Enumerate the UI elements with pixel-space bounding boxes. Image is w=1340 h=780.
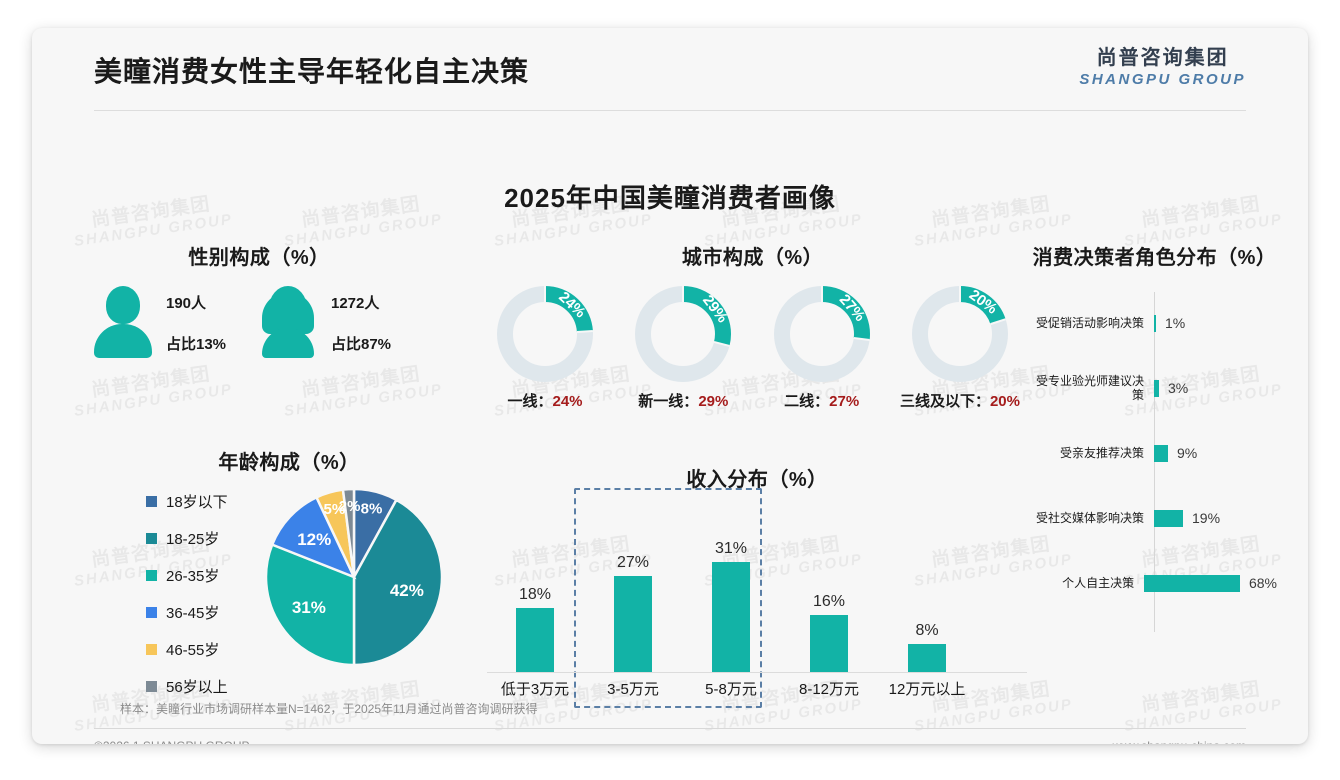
- gender-panel-title: 性别构成（%）: [94, 241, 424, 270]
- income-bar-column: 27%: [587, 554, 679, 672]
- role-row: 受专业验光师建议决策3%: [1032, 365, 1277, 411]
- city-caption: 一线：24%: [480, 390, 610, 411]
- city-name: 新一线：: [638, 393, 698, 410]
- income-bar: [614, 576, 652, 672]
- income-category-label: 5-8万元: [685, 678, 777, 699]
- city-panel: 城市构成（%） 24%一线：24%29%新一线：29%27%二线：27%20%三…: [480, 241, 1025, 411]
- role-value: 1%: [1165, 315, 1185, 331]
- income-bar-value: 18%: [489, 586, 581, 604]
- age-legend: 18岁以下18-25岁26-35岁36-45岁46-55岁56岁以上: [146, 491, 228, 713]
- city-value: 29%: [698, 393, 728, 410]
- city-caption: 三线及以下：20%: [895, 390, 1025, 411]
- income-bar-value: 27%: [587, 554, 679, 572]
- city-caption: 新一线：29%: [618, 390, 748, 411]
- legend-swatch-icon: [146, 570, 157, 581]
- age-legend-item: 26-35岁: [146, 565, 228, 586]
- role-row: 受促销活动影响决策1%: [1032, 300, 1277, 346]
- city-value: 20%: [990, 393, 1020, 410]
- age-panel: 年龄构成（%） 18岁以下18-25岁26-35岁36-45岁46-55岁56岁…: [94, 446, 484, 667]
- role-row: 个人自主决策68%: [1032, 560, 1277, 606]
- age-legend-label: 18-25岁: [166, 528, 219, 549]
- legend-swatch-icon: [146, 644, 157, 655]
- role-row: 受社交媒体影响决策19%: [1032, 495, 1277, 541]
- role-bar: [1154, 315, 1156, 332]
- pie-slice-label: 31%: [292, 598, 326, 617]
- donut-chart: 24%: [497, 286, 593, 382]
- age-legend-label: 56岁以上: [166, 676, 228, 697]
- age-legend-label: 36-45岁: [166, 602, 219, 623]
- gender-share: 占比87%: [331, 333, 391, 354]
- pie-slice-label: 12%: [297, 530, 331, 549]
- role-label: 受社交媒体影响决策: [1032, 511, 1150, 525]
- header-divider: [94, 110, 1246, 111]
- income-category-label: 12万元以上: [881, 678, 973, 699]
- role-bar: [1154, 380, 1159, 397]
- gender-count: 1272人: [331, 292, 391, 313]
- copyright-text: ©2026.1 SHANGPU GROUP: [94, 739, 250, 744]
- header: 美瞳消费女性主导年轻化自主决策 尚普咨询集团 SHANGPU GROUP: [32, 28, 1308, 113]
- income-bar: [908, 644, 946, 672]
- city-name: 一线：: [507, 393, 552, 410]
- decision-roles-panel-title: 消费决策者角色分布（%）: [1032, 241, 1277, 270]
- pie-slice-label: 42%: [390, 581, 424, 600]
- legend-swatch-icon: [146, 681, 157, 692]
- gender-count: 190人: [166, 292, 226, 313]
- role-bar: [1154, 445, 1168, 462]
- city-donut-item: 20%三线及以下：20%: [895, 286, 1025, 411]
- income-category-label: 3-5万元: [587, 678, 679, 699]
- income-bar-value: 31%: [685, 540, 777, 558]
- gender-item: 190人占比13%: [94, 286, 259, 358]
- role-bar: [1144, 575, 1240, 592]
- age-legend-item: 18-25岁: [146, 528, 228, 549]
- gender-text: 1272人占比87%: [331, 286, 391, 354]
- income-bar: [810, 615, 848, 672]
- role-label: 受亲友推荐决策: [1032, 446, 1150, 460]
- city-donut-item: 27%二线：27%: [757, 286, 887, 411]
- city-caption: 二线：27%: [757, 390, 887, 411]
- income-bar: [712, 562, 750, 672]
- role-row: 受亲友推荐决策9%: [1032, 430, 1277, 476]
- income-category-label: 低于3万元: [489, 678, 581, 699]
- income-bar-value: 16%: [783, 593, 875, 611]
- gender-share: 占比13%: [166, 333, 226, 354]
- donut-chart: 20%: [912, 286, 1008, 382]
- age-chart: 18岁以下18-25岁26-35岁36-45岁46-55岁56岁以上 8%42%…: [94, 487, 484, 667]
- role-label: 受专业验光师建议决策: [1032, 374, 1150, 403]
- chart-subtitle: 2025年中国美瞳消费者画像: [32, 178, 1308, 215]
- age-panel-title: 年龄构成（%）: [94, 446, 484, 475]
- city-panel-title: 城市构成（%）: [480, 241, 1025, 270]
- income-bars: 18%27%31%16%8%: [487, 502, 1027, 672]
- income-axis-line: [487, 672, 1027, 673]
- role-value: 3%: [1168, 380, 1188, 396]
- role-bar: [1154, 510, 1183, 527]
- website-url[interactable]: www.shangpu-china.com: [1113, 739, 1246, 744]
- female-icon: [259, 286, 317, 358]
- page-title: 美瞳消费女性主导年轻化自主决策: [94, 50, 529, 90]
- pie-slice-label: 2%: [339, 498, 361, 515]
- gender-items: 190人占比13%1272人占比87%: [94, 286, 424, 358]
- gender-text: 190人占比13%: [166, 286, 226, 354]
- age-legend-label: 18岁以下: [166, 491, 228, 512]
- decision-roles-chart: 受促销活动影响决策1%受专业验光师建议决策3%受亲友推荐决策9%受社交媒体影响决…: [1032, 292, 1277, 632]
- income-category-label: 8-12万元: [783, 678, 875, 699]
- gender-panel: 性别构成（%） 190人占比13%1272人占比87%: [94, 241, 424, 358]
- city-donut-item: 24%一线：24%: [480, 286, 610, 411]
- role-value: 9%: [1177, 445, 1197, 461]
- age-legend-label: 26-35岁: [166, 565, 219, 586]
- legend-swatch-icon: [146, 496, 157, 507]
- city-name: 三线及以下：: [900, 393, 990, 410]
- age-legend-item: 36-45岁: [146, 602, 228, 623]
- sample-footnote: 样本：美瞳行业市场调研样本量N=1462，于2025年11月通过尚普咨询调研获得: [120, 700, 538, 717]
- income-panel: 收入分布（%） 18%27%31%16%8% 低于3万元3-5万元5-8万元8-…: [487, 463, 1027, 717]
- logo-english-text: SHANGPU GROUP: [1079, 70, 1246, 90]
- age-legend-item: 46-55岁: [146, 639, 228, 660]
- age-legend-item: 18岁以下: [146, 491, 228, 512]
- city-donut-row: 24%一线：24%29%新一线：29%27%二线：27%20%三线及以下：20%: [480, 286, 1025, 411]
- income-category-labels: 低于3万元3-5万元5-8万元8-12万元12万元以上: [487, 678, 1027, 708]
- role-label: 受促销活动影响决策: [1032, 316, 1150, 330]
- age-pie-chart: 8%42%31%12%5%2%: [264, 487, 444, 672]
- gender-item: 1272人占比87%: [259, 286, 424, 358]
- logo-chinese-text: 尚普咨询集团: [1079, 46, 1246, 70]
- city-donut-item: 29%新一线：29%: [618, 286, 748, 411]
- role-value: 68%: [1249, 575, 1277, 591]
- decision-roles-panel: 消费决策者角色分布（%） 受促销活动影响决策1%受专业验光师建议决策3%受亲友推…: [1032, 241, 1277, 632]
- income-bar-value: 8%: [881, 622, 973, 640]
- income-chart: 18%27%31%16%8% 低于3万元3-5万元5-8万元8-12万元12万元…: [487, 502, 1027, 717]
- legend-swatch-icon: [146, 533, 157, 544]
- donut-chart: 29%: [635, 286, 731, 382]
- income-bar-column: 8%: [881, 622, 973, 672]
- age-legend-item: 56岁以上: [146, 676, 228, 697]
- donut-chart: 27%: [774, 286, 870, 382]
- income-bar-column: 16%: [783, 593, 875, 672]
- income-bar-column: 18%: [489, 586, 581, 672]
- male-icon: [94, 286, 152, 358]
- income-bar: [516, 608, 554, 672]
- footer-divider: [94, 728, 1246, 729]
- pie-slice-label: 8%: [361, 500, 383, 517]
- role-value: 19%: [1192, 510, 1220, 526]
- city-value: 24%: [552, 393, 582, 410]
- legend-swatch-icon: [146, 607, 157, 618]
- city-value: 27%: [829, 393, 859, 410]
- age-legend-label: 46-55岁: [166, 639, 219, 660]
- income-bar-column: 31%: [685, 540, 777, 672]
- role-label: 个人自主决策: [1032, 576, 1140, 590]
- city-name: 二线：: [784, 393, 829, 410]
- infographic-card: 尚普咨询集团SHANGPU GROUP尚普咨询集团SHANGPU GROUP尚普…: [32, 28, 1308, 744]
- brand-logo: 尚普咨询集团 SHANGPU GROUP: [1079, 46, 1246, 90]
